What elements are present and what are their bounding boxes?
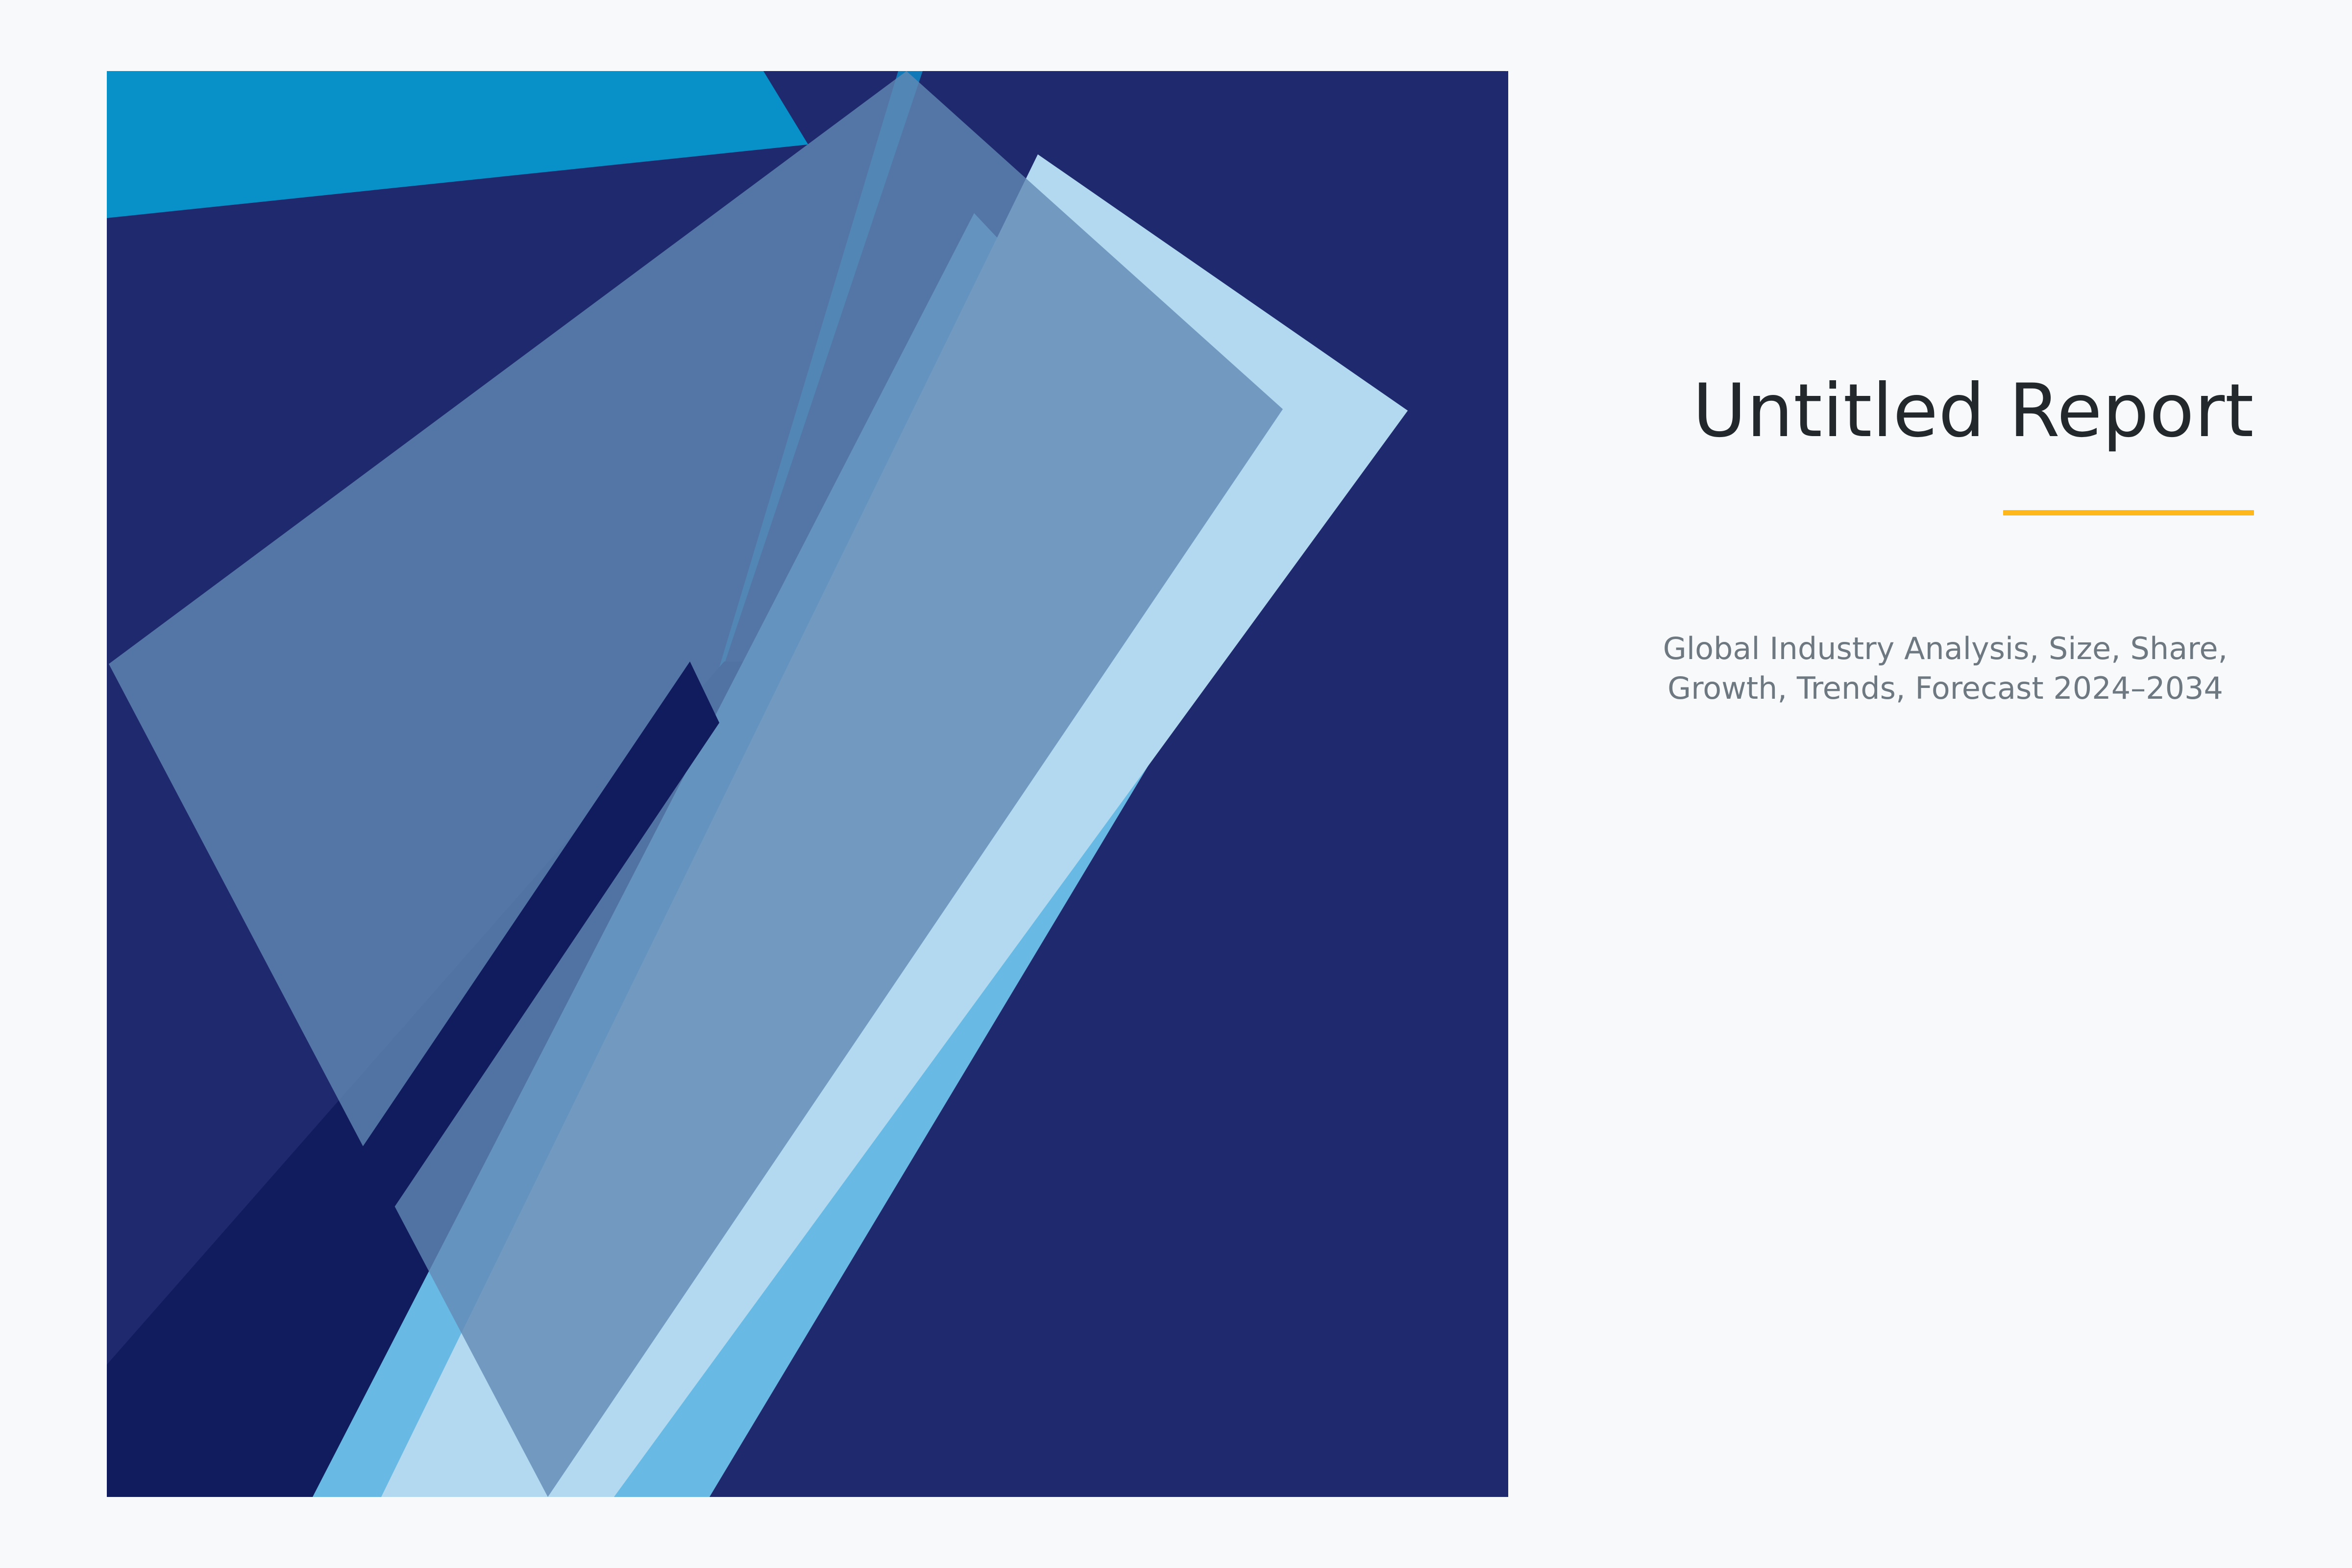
report-subtitle: Global Industry Analysis, Size, Share, G…	[1637, 629, 2254, 708]
cover-artwork-svg	[107, 71, 1508, 1497]
cover-artwork	[107, 71, 1508, 1497]
page-title: Untitled Report	[1558, 372, 2254, 450]
title-accent-rule	[2003, 510, 2254, 515]
title-block: Untitled Report Global Industry Analysis…	[1558, 372, 2254, 708]
cover-page: Untitled Report Global Industry Analysis…	[0, 0, 2352, 1568]
